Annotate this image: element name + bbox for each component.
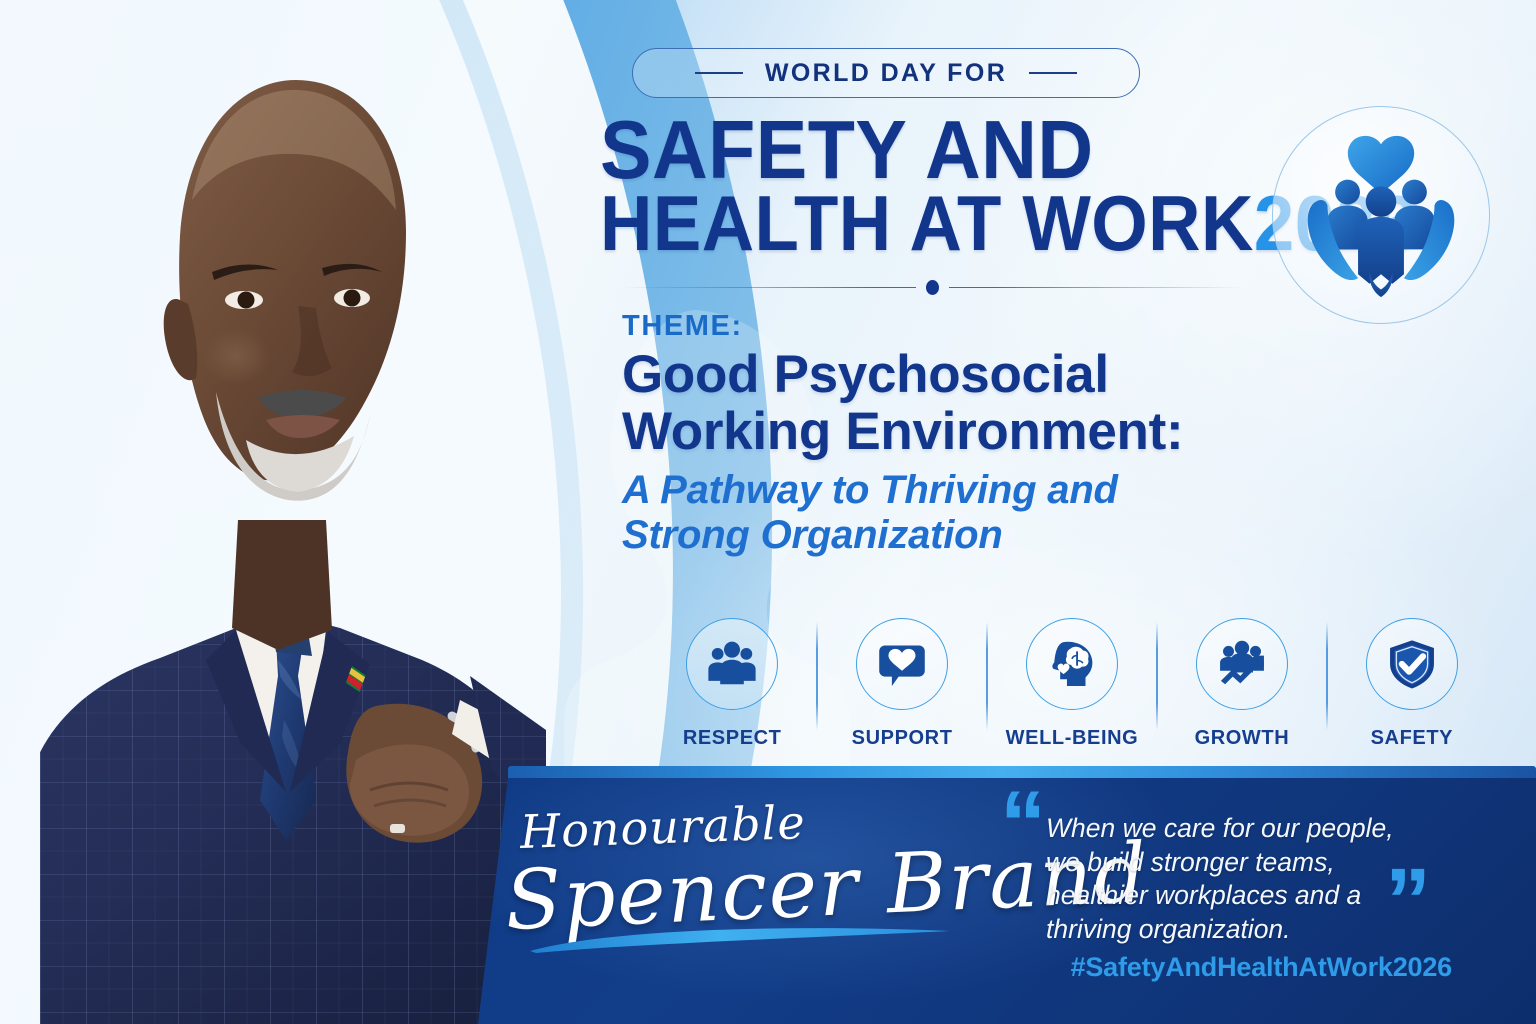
pill-dash-right (1029, 72, 1077, 74)
theme-label: THEME: (622, 310, 1300, 343)
people-growth-arrow-icon (1196, 618, 1288, 710)
value-label: SUPPORT (852, 727, 953, 750)
title-line-2: HEALTH AT WORK2026 (600, 184, 1251, 262)
divider-line-left (622, 287, 916, 289)
shield-check-icon (1366, 618, 1458, 710)
people-group-icon (686, 618, 778, 710)
value-item-growth: GROWTH (1158, 618, 1326, 750)
campaign-hashtag: #SafetyAndHealthAtWork2026 (1046, 952, 1452, 983)
quote-text: When we care for our people, we build st… (1046, 812, 1406, 947)
title-line-2-text: HEALTH AT WORK (600, 179, 1254, 267)
divider-dot (926, 280, 939, 295)
head-brain-heart-icon (1026, 618, 1118, 710)
main-content-column: WORLD DAY FOR SAFETY AND HEALTH AT WORK2… (600, 48, 1300, 557)
name-underline-swoosh (526, 925, 956, 955)
value-item-wellbeing: WELL-BEING (988, 618, 1156, 750)
value-label: WELL-BEING (1006, 727, 1139, 750)
theme-subtitle-line-1: A Pathway to Thriving and (622, 468, 1300, 513)
title-line-1: SAFETY AND (600, 112, 1251, 188)
value-item-respect: RESPECT (648, 618, 816, 750)
theme-heading: Good Psychosocial Working Environment: (622, 347, 1300, 460)
quote-close-mark: ” (1385, 855, 1431, 947)
values-icon-strip: RESPECT SUPPORT (648, 618, 1496, 750)
divider-line-right (949, 287, 1243, 289)
value-label: GROWTH (1195, 727, 1290, 750)
eyebrow-pill: WORLD DAY FOR (632, 48, 1140, 98)
theme-heading-line-2: Working Environment: (622, 404, 1300, 461)
speech-bubble-heart-icon (856, 618, 948, 710)
poster-canvas: WORLD DAY FOR SAFETY AND HEALTH AT WORK2… (0, 0, 1536, 1024)
theme-subtitle: A Pathway to Thriving and Strong Organiz… (622, 468, 1300, 558)
eyebrow-label: WORLD DAY FOR (765, 59, 1007, 88)
value-label: RESPECT (683, 727, 782, 750)
quote-open-mark: “ (1000, 778, 1046, 870)
theme-subtitle-line-2: Strong Organization (622, 513, 1300, 558)
section-divider (622, 276, 1242, 298)
speaker-portrait-photo (40, 0, 550, 1024)
value-item-support: SUPPORT (818, 618, 986, 750)
value-item-safety: SAFETY (1328, 618, 1496, 750)
hands-holding-people-heart-logo (1272, 106, 1490, 324)
theme-heading-line-1: Good Psychosocial (622, 347, 1300, 404)
value-label: SAFETY (1371, 727, 1454, 750)
pill-dash-left (695, 72, 743, 74)
